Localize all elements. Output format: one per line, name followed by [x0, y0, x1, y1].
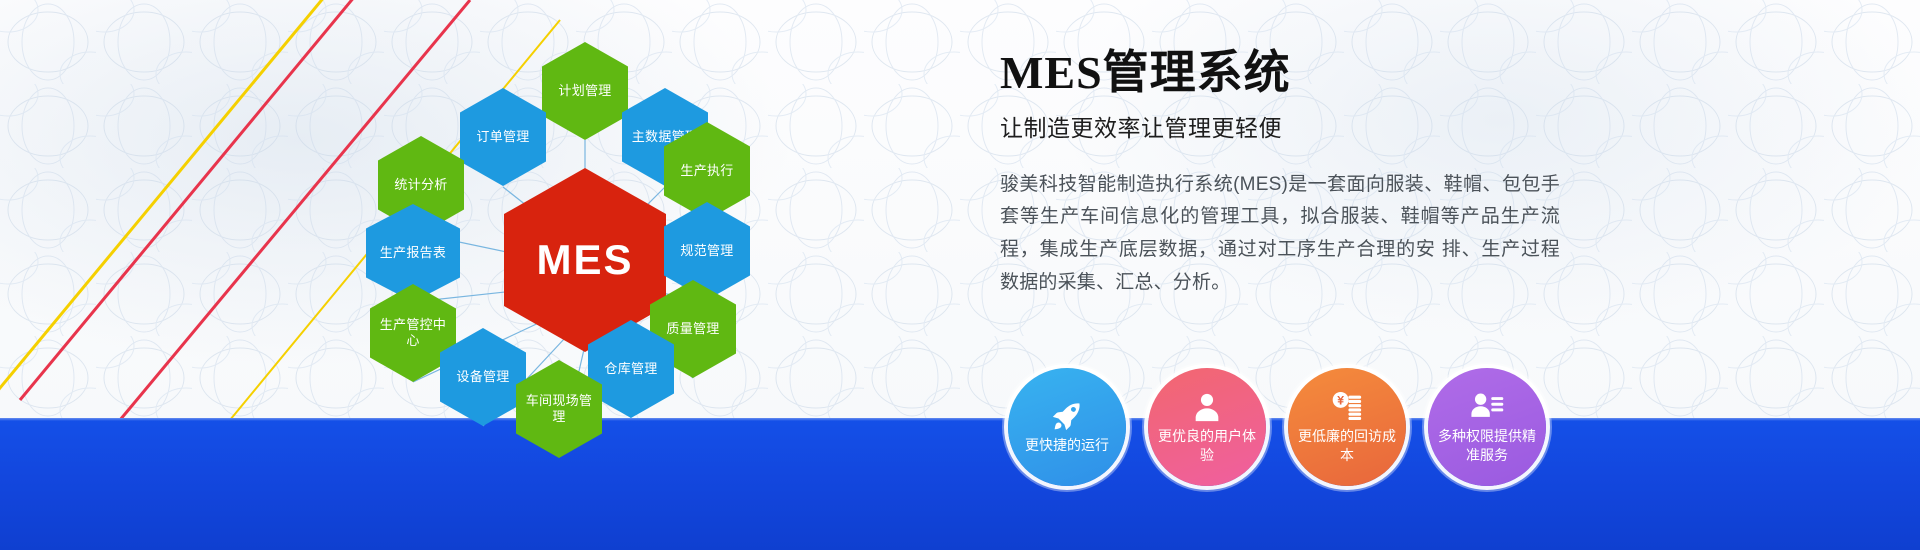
feature-badge-permission-service[interactable]: 多种权限提供精准服务 [1428, 368, 1546, 486]
diagram-node-label: 设备管理 [450, 369, 515, 385]
diagram-node-label: 生产报告表 [374, 245, 453, 261]
diagram-node-label: 仓库管理 [598, 361, 663, 377]
diagram-node-label: 生产执行 [674, 163, 739, 179]
diagram-core-label: MES [530, 234, 639, 287]
diagram-node-label: 统计分析 [388, 177, 453, 193]
page-description: 骏美科技智能制造执行系统(MES)是一套面向服装、鞋帽、包包手套等生产车间信息化… [1000, 169, 1560, 300]
feature-badge-label: 多种权限提供精准服务 [1428, 427, 1546, 465]
coins-icon [1330, 390, 1364, 424]
diagram-node-label: 质量管理 [660, 321, 725, 337]
page-subtitle: 让制造更效率让管理更轻便 [1000, 109, 1600, 143]
feature-badge-better-experience[interactable]: 更优良的用户体验 [1148, 368, 1266, 486]
user-list-icon [1470, 390, 1504, 424]
promo-copy: MES管理系统 让制造更效率让管理更轻便 骏美科技智能制造执行系统(MES)是一… [1000, 48, 1600, 299]
diagram-node-label: 计划管理 [552, 83, 617, 99]
page-title: MES管理系统 [1000, 48, 1600, 99]
feature-badge-list: 更快捷的运行 更优良的用户体验 更低 [1008, 368, 1546, 486]
user-icon [1190, 390, 1224, 424]
mes-promo-banner: MES 计划管理 订单管理 主数据管理 统计分析 生产执行 规范管理 生产报告表… [0, 0, 1920, 550]
feature-badge-lower-cost[interactable]: 更低廉的回访成本 [1288, 368, 1406, 486]
diagram-node-label: 订单管理 [470, 129, 535, 145]
diagram-node-label: 车间现场管理 [516, 393, 602, 426]
feature-badge-label: 更优良的用户体验 [1148, 427, 1266, 465]
feature-badge-label: 更快捷的运行 [1017, 436, 1117, 455]
mes-module-diagram: MES 计划管理 订单管理 主数据管理 统计分析 生产执行 规范管理 生产报告表… [330, 20, 830, 440]
background-bottom-band [0, 418, 1920, 550]
diagram-node-label: 规范管理 [674, 243, 739, 259]
rocket-icon [1050, 399, 1084, 433]
feature-badge-faster-operation[interactable]: 更快捷的运行 [1008, 368, 1126, 486]
feature-badge-label: 更低廉的回访成本 [1288, 427, 1406, 465]
diagram-node-label: 生产管控中心 [370, 317, 456, 350]
